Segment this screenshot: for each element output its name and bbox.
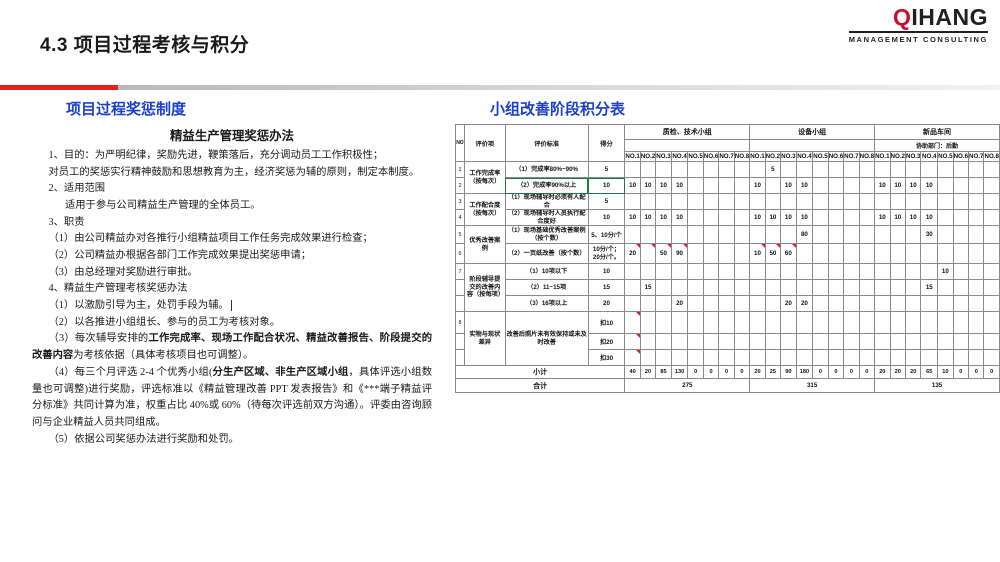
score-cell[interactable] <box>781 226 796 244</box>
score-cell[interactable] <box>969 178 984 194</box>
score-cell[interactable] <box>750 296 765 312</box>
score-cell[interactable] <box>859 210 874 226</box>
score-cell[interactable] <box>671 162 688 178</box>
score-cell[interactable] <box>813 162 828 178</box>
score-cell[interactable] <box>984 350 1000 366</box>
score-cell[interactable] <box>890 334 905 350</box>
score-cell[interactable] <box>859 178 874 194</box>
score-cell[interactable] <box>969 264 984 280</box>
score-cell[interactable] <box>953 194 968 210</box>
score-cell[interactable] <box>844 162 859 178</box>
score-cell[interactable] <box>688 210 703 226</box>
score-cell[interactable] <box>813 178 828 194</box>
score-cell[interactable] <box>765 350 780 366</box>
score-cell[interactable] <box>938 210 953 226</box>
score-cell[interactable] <box>640 312 655 334</box>
score-cell[interactable] <box>890 162 905 178</box>
score-cell[interactable] <box>875 264 890 280</box>
score-cell[interactable] <box>703 244 718 264</box>
score-cell[interactable] <box>828 244 843 264</box>
score-cell[interactable]: 20 <box>796 296 813 312</box>
score-cell[interactable] <box>905 312 920 334</box>
score-cell[interactable] <box>640 162 655 178</box>
score-cell[interactable] <box>875 350 890 366</box>
score-cell[interactable] <box>813 264 828 280</box>
score-cell[interactable] <box>938 194 953 210</box>
score-cell[interactable]: 10 <box>938 264 953 280</box>
score-cell[interactable] <box>828 194 843 210</box>
score-cell[interactable] <box>969 194 984 210</box>
score-cell[interactable] <box>921 244 938 264</box>
score-cell[interactable] <box>890 296 905 312</box>
score-cell[interactable] <box>656 162 671 178</box>
score-cell[interactable] <box>688 296 703 312</box>
score-cell[interactable] <box>765 264 780 280</box>
score-cell[interactable] <box>640 350 655 366</box>
subtotal-cell: 0 <box>813 366 828 379</box>
score-cell[interactable] <box>953 280 968 296</box>
score-cell[interactable] <box>953 296 968 312</box>
score-cell[interactable] <box>905 226 920 244</box>
score-cell[interactable]: 10 <box>671 210 688 226</box>
score-cell[interactable] <box>938 350 953 366</box>
score-cell[interactable] <box>734 296 749 312</box>
score-cell[interactable] <box>844 210 859 226</box>
score-cell[interactable] <box>859 244 874 264</box>
subtotal-cell: 0 <box>828 366 843 379</box>
score-cell[interactable] <box>844 350 859 366</box>
left-section-heading: 项目过程奖惩制度 <box>66 98 186 119</box>
score-cell[interactable] <box>813 350 828 366</box>
score-cell[interactable] <box>688 194 703 210</box>
score-cell[interactable] <box>703 296 718 312</box>
score-cell[interactable] <box>921 296 938 312</box>
score-cell[interactable] <box>625 296 640 312</box>
score-cell[interactable] <box>781 280 796 296</box>
score-cell[interactable] <box>828 226 843 244</box>
score-cell[interactable] <box>719 178 734 194</box>
score-cell[interactable]: 10 <box>750 178 765 194</box>
score-cell[interactable] <box>750 194 765 210</box>
score-cell[interactable] <box>921 350 938 366</box>
score-cell[interactable] <box>796 334 813 350</box>
score-cell[interactable] <box>938 280 953 296</box>
score-cell[interactable] <box>656 226 671 244</box>
score-cell[interactable] <box>875 244 890 264</box>
score-cell[interactable] <box>688 334 703 350</box>
score-cell[interactable] <box>953 226 968 244</box>
score-cell[interactable] <box>719 210 734 226</box>
score-cell[interactable] <box>640 296 655 312</box>
score-cell[interactable]: 10 <box>921 178 938 194</box>
score-cell[interactable] <box>781 350 796 366</box>
score-cell[interactable] <box>750 264 765 280</box>
score-cell[interactable] <box>953 210 968 226</box>
score-cell[interactable]: 90 <box>671 244 688 264</box>
row-number: 1 <box>456 162 465 178</box>
score-cell[interactable] <box>719 226 734 244</box>
score-cell[interactable] <box>734 244 749 264</box>
score-cell[interactable] <box>953 312 968 334</box>
score-cell[interactable] <box>844 178 859 194</box>
company-logo: QIHANG MANAGEMENT CONSULTING <box>849 6 988 44</box>
score-cell[interactable] <box>844 334 859 350</box>
score-cell[interactable]: 10 <box>921 210 938 226</box>
score-cell[interactable] <box>625 194 640 210</box>
score-cell[interactable] <box>984 264 1000 280</box>
score-cell[interactable] <box>656 334 671 350</box>
score-cell[interactable] <box>671 312 688 334</box>
score-cell[interactable] <box>719 296 734 312</box>
score-cell[interactable] <box>703 226 718 244</box>
score-cell[interactable] <box>656 312 671 334</box>
score-cell[interactable] <box>938 296 953 312</box>
score-cell[interactable] <box>688 312 703 334</box>
score-cell[interactable]: 10 <box>765 210 780 226</box>
score-cell[interactable] <box>625 226 640 244</box>
score-cell[interactable]: 10 <box>656 210 671 226</box>
score-cell[interactable]: 10 <box>625 178 640 194</box>
score-cell[interactable]: 30 <box>921 226 938 244</box>
score-cell[interactable] <box>813 280 828 296</box>
score-cell[interactable] <box>640 264 655 280</box>
score-cell[interactable] <box>859 334 874 350</box>
score-cell[interactable] <box>796 350 813 366</box>
score-cell[interactable] <box>844 264 859 280</box>
score-cell[interactable] <box>813 210 828 226</box>
score-cell[interactable] <box>984 226 1000 244</box>
score-cell[interactable] <box>890 244 905 264</box>
score-cell[interactable] <box>719 334 734 350</box>
score-cell[interactable]: 10 <box>671 178 688 194</box>
score-cell[interactable] <box>859 226 874 244</box>
score-cell[interactable] <box>828 210 843 226</box>
score-cell[interactable] <box>640 226 655 244</box>
score-cell[interactable] <box>969 210 984 226</box>
score-cell[interactable]: 20 <box>671 296 688 312</box>
score-cell[interactable] <box>640 194 655 210</box>
score-cell[interactable] <box>969 312 984 334</box>
score-cell[interactable] <box>796 162 813 178</box>
score-cell[interactable] <box>828 162 843 178</box>
score-cell[interactable] <box>984 296 1000 312</box>
score-cell[interactable] <box>688 226 703 244</box>
score-cell[interactable] <box>734 264 749 280</box>
score-cell[interactable] <box>828 350 843 366</box>
score-cell[interactable] <box>921 194 938 210</box>
score-cell[interactable] <box>953 264 968 280</box>
score-cell[interactable] <box>671 194 688 210</box>
row-number: 3 <box>456 194 465 210</box>
score-cell[interactable] <box>750 162 765 178</box>
score-cell[interactable]: 10 <box>640 210 655 226</box>
score-cell[interactable] <box>969 280 984 296</box>
score-cell[interactable]: 10 <box>905 178 920 194</box>
score-cell[interactable] <box>656 194 671 210</box>
score-cell[interactable] <box>890 264 905 280</box>
score-cell[interactable] <box>734 334 749 350</box>
score-cell[interactable] <box>921 334 938 350</box>
score-cell[interactable] <box>688 178 703 194</box>
score-cell[interactable] <box>984 280 1000 296</box>
score-cell[interactable] <box>859 312 874 334</box>
score-cell[interactable] <box>796 312 813 334</box>
score-cell[interactable] <box>875 194 890 210</box>
score-cell[interactable] <box>625 162 640 178</box>
score-cell[interactable]: 10 <box>781 178 796 194</box>
score-cell[interactable] <box>875 312 890 334</box>
score-cell[interactable] <box>734 226 749 244</box>
score-cell[interactable] <box>844 280 859 296</box>
score-cell[interactable] <box>828 264 843 280</box>
score-cell[interactable] <box>984 210 1000 226</box>
score-cell[interactable] <box>875 226 890 244</box>
score-cell[interactable] <box>938 334 953 350</box>
score-cell[interactable] <box>750 334 765 350</box>
score-cell[interactable] <box>703 280 718 296</box>
score-cell[interactable] <box>890 280 905 296</box>
score-cell[interactable] <box>938 244 953 264</box>
score-cell[interactable] <box>719 264 734 280</box>
score-cell[interactable]: 10 <box>796 210 813 226</box>
score-cell[interactable] <box>703 350 718 366</box>
score-cell[interactable] <box>875 334 890 350</box>
score-cell[interactable]: 10 <box>875 210 890 226</box>
score-cell[interactable] <box>859 194 874 210</box>
score-cell[interactable] <box>781 264 796 280</box>
score-cell[interactable] <box>813 226 828 244</box>
score-cell[interactable] <box>703 264 718 280</box>
score-cell[interactable] <box>844 312 859 334</box>
score-cell[interactable] <box>813 334 828 350</box>
score-cell[interactable] <box>640 334 655 350</box>
score-cell[interactable]: 10 <box>890 178 905 194</box>
evaluation-criteria: （2）现场辅导时人员执行配合度好 <box>505 210 588 226</box>
score-cell[interactable] <box>828 312 843 334</box>
score-cell[interactable] <box>719 350 734 366</box>
score-cell[interactable] <box>656 296 671 312</box>
score-cell[interactable]: 60 <box>781 244 796 264</box>
score-cell[interactable] <box>765 296 780 312</box>
policy-paragraph: （4）每三个月评选 2-4 个优秀小组(分生产区域、非生产区域小组，具体评选小组… <box>32 365 432 432</box>
score-cell[interactable] <box>813 244 828 264</box>
score-cell[interactable] <box>765 312 780 334</box>
score-cell[interactable] <box>625 334 640 350</box>
score-cell[interactable]: 20 <box>625 244 640 264</box>
score-cell[interactable] <box>796 194 813 210</box>
score-cell[interactable] <box>688 264 703 280</box>
score-cell[interactable] <box>781 162 796 178</box>
score-cell[interactable] <box>969 244 984 264</box>
score-cell[interactable] <box>859 162 874 178</box>
score-cell[interactable] <box>938 312 953 334</box>
score-cell[interactable] <box>688 350 703 366</box>
score-cell[interactable] <box>953 244 968 264</box>
score-cell[interactable] <box>938 162 953 178</box>
score-cell[interactable] <box>890 312 905 334</box>
score-cell[interactable]: 15 <box>921 280 938 296</box>
score-cell[interactable] <box>765 334 780 350</box>
score-cell[interactable] <box>938 178 953 194</box>
score-cell[interactable] <box>671 226 688 244</box>
score-cell[interactable]: 10 <box>656 178 671 194</box>
score-cell[interactable]: 80 <box>796 226 813 244</box>
score-cell[interactable] <box>984 162 1000 178</box>
score-cell[interactable] <box>813 194 828 210</box>
score-cell[interactable] <box>984 244 1000 264</box>
score-cell[interactable] <box>734 280 749 296</box>
score-cell[interactable]: 10 <box>640 178 655 194</box>
score-cell[interactable]: 10 <box>905 210 920 226</box>
score-cell[interactable]: 10 <box>750 244 765 264</box>
score-cell[interactable] <box>984 334 1000 350</box>
score-cell[interactable] <box>750 350 765 366</box>
score-cell[interactable] <box>859 350 874 366</box>
score-cell[interactable] <box>719 312 734 334</box>
score-cell[interactable] <box>921 162 938 178</box>
score-cell[interactable] <box>796 244 813 264</box>
score-cell[interactable] <box>656 264 671 280</box>
score-cell[interactable] <box>984 194 1000 210</box>
score-cell[interactable] <box>969 350 984 366</box>
score-cell[interactable] <box>750 280 765 296</box>
score-cell[interactable] <box>890 350 905 366</box>
score-cell[interactable] <box>859 264 874 280</box>
score-cell[interactable] <box>734 194 749 210</box>
score-cell[interactable] <box>625 350 640 366</box>
score-cell[interactable] <box>905 162 920 178</box>
score-cell[interactable] <box>734 312 749 334</box>
score-cell[interactable] <box>953 334 968 350</box>
score-cell[interactable] <box>671 350 688 366</box>
score-cell[interactable] <box>984 312 1000 334</box>
score-cell[interactable] <box>703 210 718 226</box>
score-cell[interactable] <box>875 280 890 296</box>
score-cell[interactable] <box>765 280 780 296</box>
score-cell[interactable] <box>796 280 813 296</box>
score-cell[interactable] <box>828 296 843 312</box>
score-cell[interactable] <box>953 178 968 194</box>
score-cell[interactable]: 50 <box>765 244 780 264</box>
score-cell[interactable] <box>750 226 765 244</box>
score-cell[interactable] <box>765 178 780 194</box>
score-cell[interactable] <box>765 226 780 244</box>
score-cell[interactable] <box>890 226 905 244</box>
score-cell[interactable] <box>905 264 920 280</box>
score-cell[interactable] <box>859 280 874 296</box>
score-cell[interactable] <box>953 162 968 178</box>
score-cell[interactable]: 50 <box>656 244 671 264</box>
score-cell[interactable] <box>921 312 938 334</box>
score-cell[interactable] <box>719 244 734 264</box>
score-cell[interactable]: 10 <box>875 178 890 194</box>
score-cell[interactable] <box>905 334 920 350</box>
score-cell[interactable]: 10 <box>625 210 640 226</box>
score-cell[interactable] <box>719 162 734 178</box>
score-cell[interactable] <box>844 194 859 210</box>
score-cell[interactable] <box>703 334 718 350</box>
score-cell[interactable] <box>875 162 890 178</box>
score-cell[interactable] <box>828 280 843 296</box>
score-cell[interactable]: 10 <box>796 178 813 194</box>
score-cell[interactable]: 10 <box>890 210 905 226</box>
score-cell[interactable] <box>828 334 843 350</box>
score-cell[interactable] <box>969 334 984 350</box>
subtotal-cell: 0 <box>719 366 734 379</box>
score-cell[interactable] <box>969 162 984 178</box>
score-cell[interactable] <box>703 178 718 194</box>
score-cell[interactable] <box>938 226 953 244</box>
score-cell[interactable] <box>734 350 749 366</box>
score-cell[interactable] <box>688 244 703 264</box>
score-cell[interactable] <box>719 194 734 210</box>
group-header: 新品车间 <box>875 125 1000 140</box>
score-cell[interactable] <box>859 296 874 312</box>
score-cell[interactable] <box>688 280 703 296</box>
score-cell[interactable] <box>844 296 859 312</box>
score-cell[interactable] <box>625 280 640 296</box>
score-cell[interactable] <box>844 226 859 244</box>
score-cell[interactable] <box>734 210 749 226</box>
score-cell[interactable] <box>734 162 749 178</box>
score-cell[interactable] <box>750 312 765 334</box>
score-cell[interactable] <box>703 162 718 178</box>
score-cell[interactable]: 20 <box>781 296 796 312</box>
score-cell[interactable] <box>953 350 968 366</box>
score-cell[interactable] <box>671 280 688 296</box>
score-cell[interactable]: 15 <box>640 280 655 296</box>
score-cell[interactable] <box>625 264 640 280</box>
score-cell[interactable]: 10 <box>750 210 765 226</box>
score-cell[interactable] <box>640 244 655 264</box>
score-cell[interactable] <box>656 350 671 366</box>
score-cell[interactable] <box>828 178 843 194</box>
score-cell[interactable] <box>703 312 718 334</box>
score-cell[interactable] <box>781 312 796 334</box>
score-cell[interactable] <box>703 194 718 210</box>
score-table-wrap: NO评价项评价标准得分质检、技术小组设备小组新品车间协助部门：后勤NO.1NO.… <box>455 124 1000 393</box>
score-cell[interactable] <box>984 178 1000 194</box>
score-cell[interactable] <box>921 264 938 280</box>
subtotal-cell: 20 <box>750 366 765 379</box>
score-cell[interactable] <box>905 280 920 296</box>
score-cell[interactable] <box>844 244 859 264</box>
score-cell[interactable] <box>813 296 828 312</box>
score-cell[interactable] <box>625 312 640 334</box>
score-cell[interactable] <box>781 334 796 350</box>
score-cell[interactable] <box>905 244 920 264</box>
score-cell[interactable] <box>813 312 828 334</box>
score-cell[interactable] <box>890 194 905 210</box>
score-cell[interactable] <box>875 296 890 312</box>
score-cell[interactable] <box>688 162 703 178</box>
score-cell[interactable] <box>765 194 780 210</box>
score-cell[interactable] <box>656 280 671 296</box>
score-cell[interactable] <box>796 264 813 280</box>
score-cell[interactable]: 10 <box>781 210 796 226</box>
score-cell[interactable] <box>969 226 984 244</box>
score-cell[interactable] <box>905 350 920 366</box>
score-cell[interactable] <box>969 296 984 312</box>
score-cell[interactable] <box>671 264 688 280</box>
score-cell[interactable] <box>905 194 920 210</box>
score-cell[interactable] <box>781 194 796 210</box>
score-cell[interactable] <box>905 296 920 312</box>
score-cell[interactable] <box>671 334 688 350</box>
score-cell[interactable] <box>734 178 749 194</box>
score-cell[interactable] <box>719 280 734 296</box>
score-cell[interactable]: 5 <box>765 162 780 178</box>
